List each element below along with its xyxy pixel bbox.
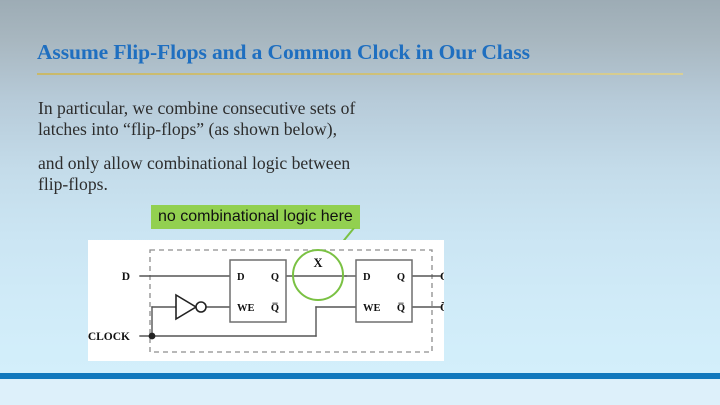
latch-left-pin-we: WE [237, 303, 255, 314]
label-output-q: Q [440, 271, 444, 283]
page-title: Assume Flip-Flops and a Common Clock in … [37, 40, 687, 65]
latch-right-pin-d: D [363, 272, 371, 283]
circuit-diagram: D CLOCK D Q WE Q̅ D Q WE Q̅ X Q Q̅ [88, 240, 444, 361]
slide-canvas: Assume Flip-Flops and a Common Clock in … [0, 0, 720, 405]
latch-left-pin-d: D [237, 272, 245, 283]
latch-right-pin-q: Q [397, 272, 405, 283]
latch-right-pin-we: WE [363, 303, 381, 314]
callout-label: no combinational logic here [151, 205, 360, 229]
body-paragraph-2: and only allow combinational logic betwe… [38, 153, 508, 195]
footer: ECE 120: Introduction to Computing © 201… [0, 379, 720, 405]
latch-right-pin-qbar: Q̅ [397, 303, 405, 314]
inverter-gate [176, 295, 206, 319]
latch-left-pin-qbar: Q̅ [271, 303, 279, 314]
circuit-schematic-svg: D CLOCK D Q WE Q̅ D Q WE Q̅ X Q Q̅ [88, 240, 444, 361]
label-input-d: D [122, 271, 130, 283]
body-paragraph-1: In particular, we combine consecutive se… [38, 98, 508, 140]
title-divider [37, 73, 683, 75]
label-output-qbar: Q̅ [440, 301, 444, 314]
label-node-x: X [313, 256, 322, 270]
clock-junction-dot [149, 333, 156, 340]
label-input-clock: CLOCK [88, 331, 130, 343]
latch-left-pin-q: Q [271, 272, 279, 283]
